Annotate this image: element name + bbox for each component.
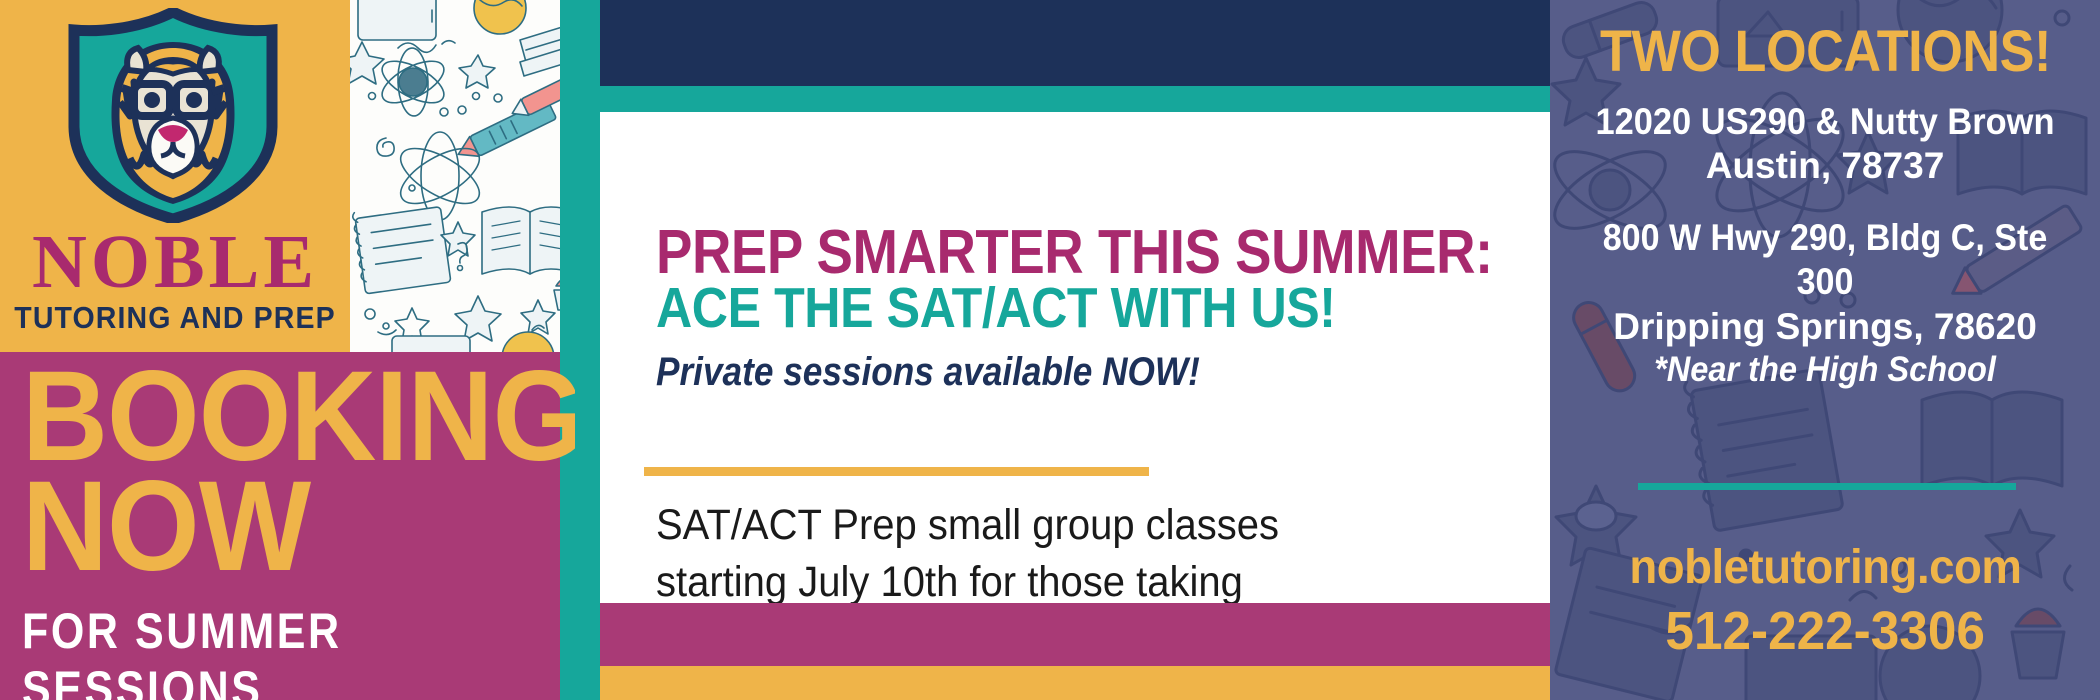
phone-number[interactable]: 512-222-3306 (1550, 600, 2100, 662)
location-1-city-zip: Austin, 78737 (1550, 144, 2100, 188)
logo-wordmark: NOBLE TUTORING AND PREP (0, 228, 350, 336)
left-panel: NOBLE TUTORING AND PREP BOOKING NOW FOR … (0, 0, 575, 700)
location-2-city-zip: Dripping Springs, 78620 (1550, 305, 2100, 349)
booking-headline-block: BOOKING NOW FOR SUMMER SESSIONS (22, 362, 552, 700)
promotional-banner: NOBLE TUTORING AND PREP BOOKING NOW FOR … (0, 0, 2100, 700)
center-gold-bar (600, 666, 1550, 700)
right-panel: TWO LOCATIONS! 12020 US290 & Nutty Brown… (1550, 0, 2100, 700)
two-locations-title: TWO LOCATIONS! (1550, 18, 2100, 85)
booking-subtitle: FOR SUMMER SESSIONS (22, 602, 478, 700)
right-content: TWO LOCATIONS! 12020 US290 & Nutty Brown… (1550, 0, 2100, 700)
school-doodles-icon (350, 0, 575, 352)
brand-name: NOBLE (0, 228, 350, 298)
booking-line-2: NOW (22, 472, 515, 582)
gold-divider (644, 467, 1149, 476)
location-2-note: *Near the High School (1569, 349, 2081, 391)
teal-rule (1638, 483, 2016, 490)
center-panel: PREP SMARTER THIS SUMMER: ACE THE SAT/AC… (575, 0, 1550, 700)
location-2: 800 W Hwy 290, Bldg C, Ste 300 Dripping … (1550, 216, 2100, 391)
center-navy-bar (600, 0, 1550, 86)
center-magenta-bar (600, 603, 1550, 666)
website-link[interactable]: nobletutoring.com (1550, 540, 2100, 595)
location-1-street: 12020 US290 & Nutty Brown (1569, 100, 2081, 144)
center-teal-edge (575, 0, 600, 700)
doodle-pattern-strip (350, 0, 575, 352)
lion-shield-icon (62, 8, 284, 223)
headline-tertiary: Private sessions available NOW! (656, 350, 1200, 395)
center-content-area: PREP SMARTER THIS SUMMER: ACE THE SAT/AC… (600, 112, 1550, 603)
body-line-1: SAT/ACT Prep small group classes (656, 497, 1177, 554)
headline-secondary: ACE THE SAT/ACT WITH US! (656, 275, 1336, 341)
brand-tagline: TUTORING AND PREP (14, 300, 336, 336)
center-teal-bar (600, 86, 1550, 112)
location-2-street: 800 W Hwy 290, Bldg C, Ste 300 (1572, 216, 2078, 305)
location-1: 12020 US290 & Nutty Brown Austin, 78737 (1550, 100, 2100, 189)
